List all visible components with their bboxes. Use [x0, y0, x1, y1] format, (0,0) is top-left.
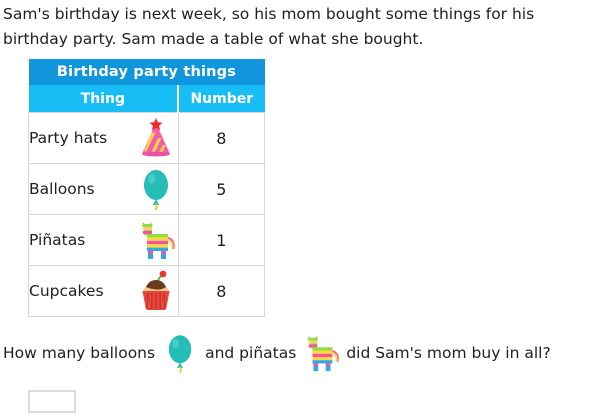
cell-thing: Cupcakes [29, 266, 179, 317]
answer-input[interactable] [28, 390, 76, 413]
pinata-icon [134, 217, 178, 263]
balloon-icon [134, 166, 178, 212]
cell-number: 1 [178, 215, 264, 266]
balloon-icon [159, 338, 201, 368]
party-hat-icon [134, 115, 178, 161]
table-row: Party hats [29, 113, 265, 164]
intro-paragraph: Sam's birthday is next week, so his mom … [3, 2, 595, 52]
column-header-thing: Thing [29, 85, 179, 113]
table-row: Balloons 5 [29, 164, 265, 215]
cell-thing: Balloons [29, 164, 179, 215]
table-title: Birthday party things [29, 59, 265, 85]
question-text-part1: How many balloons [3, 344, 155, 362]
question-text-part2: and piñatas [205, 344, 296, 362]
table-header-row: Thing Number [29, 85, 265, 113]
cell-number: 8 [178, 266, 264, 317]
thing-label: Cupcakes [29, 282, 104, 300]
cell-number: 8 [178, 113, 264, 164]
column-header-number: Number [178, 85, 264, 113]
pinata-icon [300, 338, 342, 368]
question-text-part3: did Sam's mom buy in all? [346, 344, 550, 362]
cell-thing: Party hats [29, 113, 179, 164]
table-row: Piñatas [29, 215, 265, 266]
cell-thing: Piñatas [29, 215, 179, 266]
cell-number: 5 [178, 164, 264, 215]
thing-label: Party hats [29, 129, 107, 147]
birthday-party-things-table: Birthday party things Thing Number Party… [28, 59, 265, 317]
table-row: Cupcakes [29, 266, 265, 317]
thing-label: Piñatas [29, 231, 85, 249]
question-line: How many balloons and piñatas [3, 338, 551, 368]
table-title-row: Birthday party things [29, 59, 265, 85]
cupcake-icon [134, 268, 178, 314]
thing-label: Balloons [29, 180, 95, 198]
